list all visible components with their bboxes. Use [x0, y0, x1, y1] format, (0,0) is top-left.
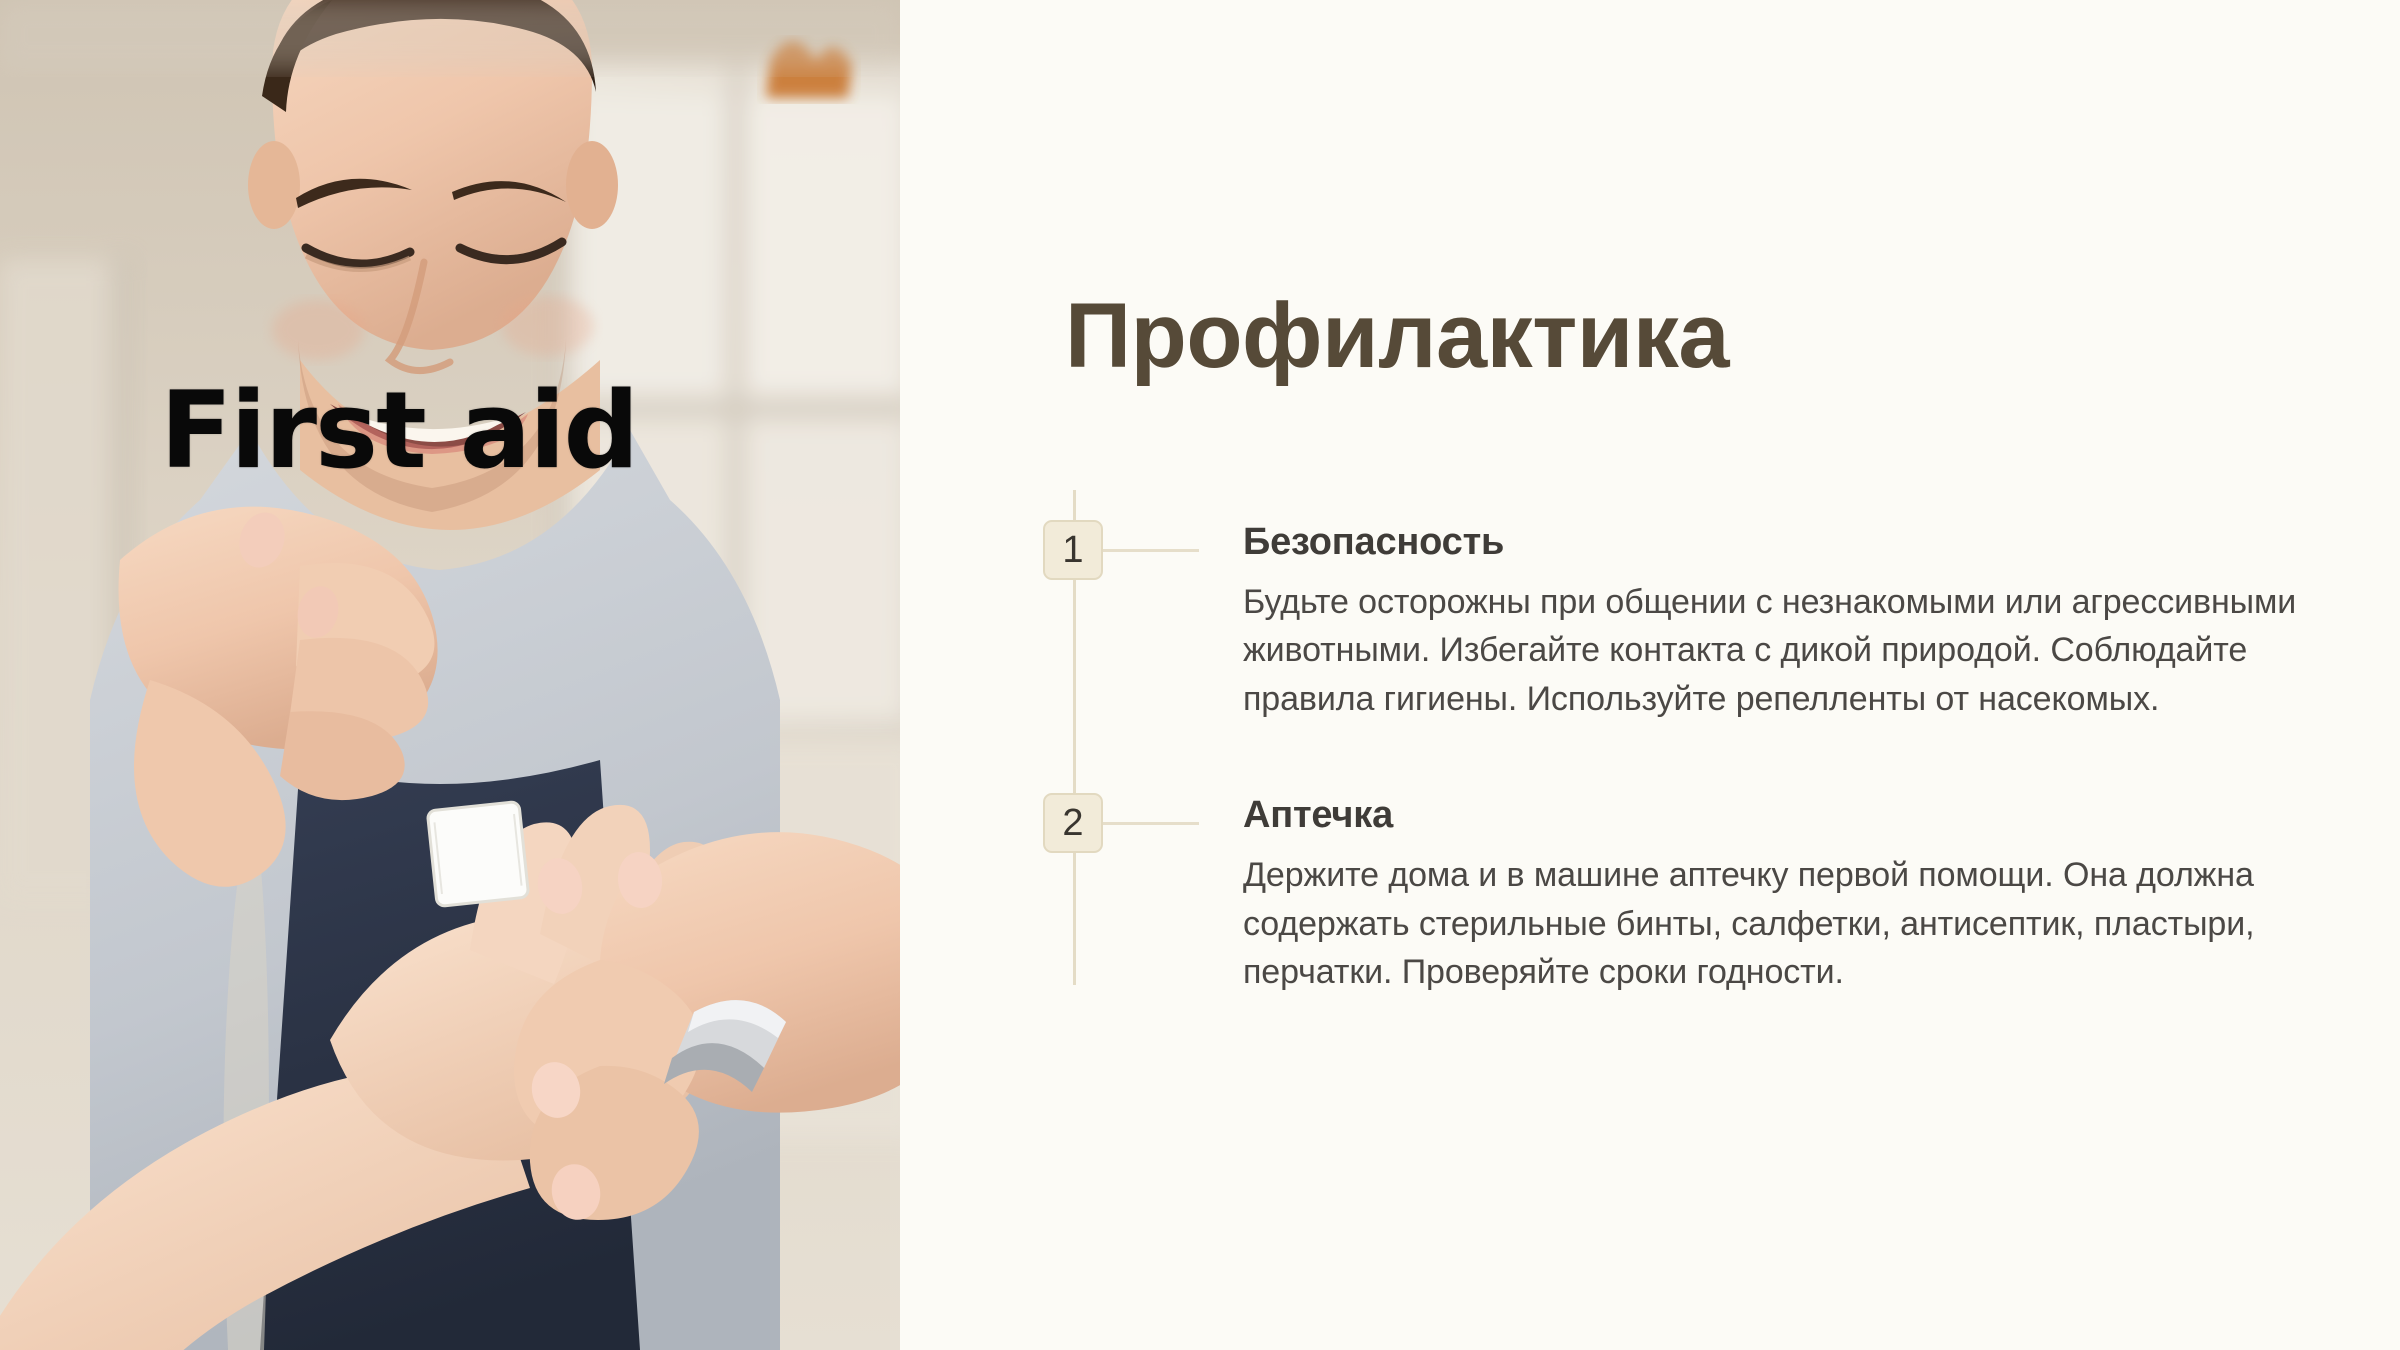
badge-wrap: 2	[1043, 793, 1103, 853]
step-heading: Аптечка	[1243, 793, 2363, 839]
step-body: Аптечка Держите дома и в машине аптечку …	[1243, 793, 2363, 996]
badge-wrap: 1	[1043, 520, 1103, 580]
step-number-badge: 2	[1043, 793, 1103, 853]
step-text: Держите дома и в машине аптечку первой п…	[1243, 851, 2363, 997]
timeline-step: 2 Аптечка Держите дома и в машине аптечк…	[1043, 793, 2363, 996]
page-title: Профилактика	[1065, 288, 1729, 385]
photo-caption: First aid	[160, 378, 637, 484]
step-body: Безопасность Будьте осторожны при общени…	[1243, 520, 2363, 723]
step-number-badge: 1	[1043, 520, 1103, 580]
badge-connector-line	[1103, 822, 1199, 825]
photo-panel: First aid	[0, 0, 900, 1350]
timeline: 1 Безопасность Будьте осторожны при обще…	[1043, 490, 2363, 997]
slide-root: First aid Профилактика 1 Безопасность Бу…	[0, 0, 2400, 1350]
badge-connector-line	[1103, 549, 1199, 552]
photo-illustration	[0, 0, 900, 1350]
step-text: Будьте осторожны при общении с незнакомы…	[1243, 578, 2363, 724]
step-heading: Безопасность	[1243, 520, 2363, 566]
content-panel: Профилактика 1 Безопасность Будьте остор…	[900, 0, 2400, 1350]
timeline-step: 1 Безопасность Будьте осторожны при обще…	[1043, 520, 2363, 723]
